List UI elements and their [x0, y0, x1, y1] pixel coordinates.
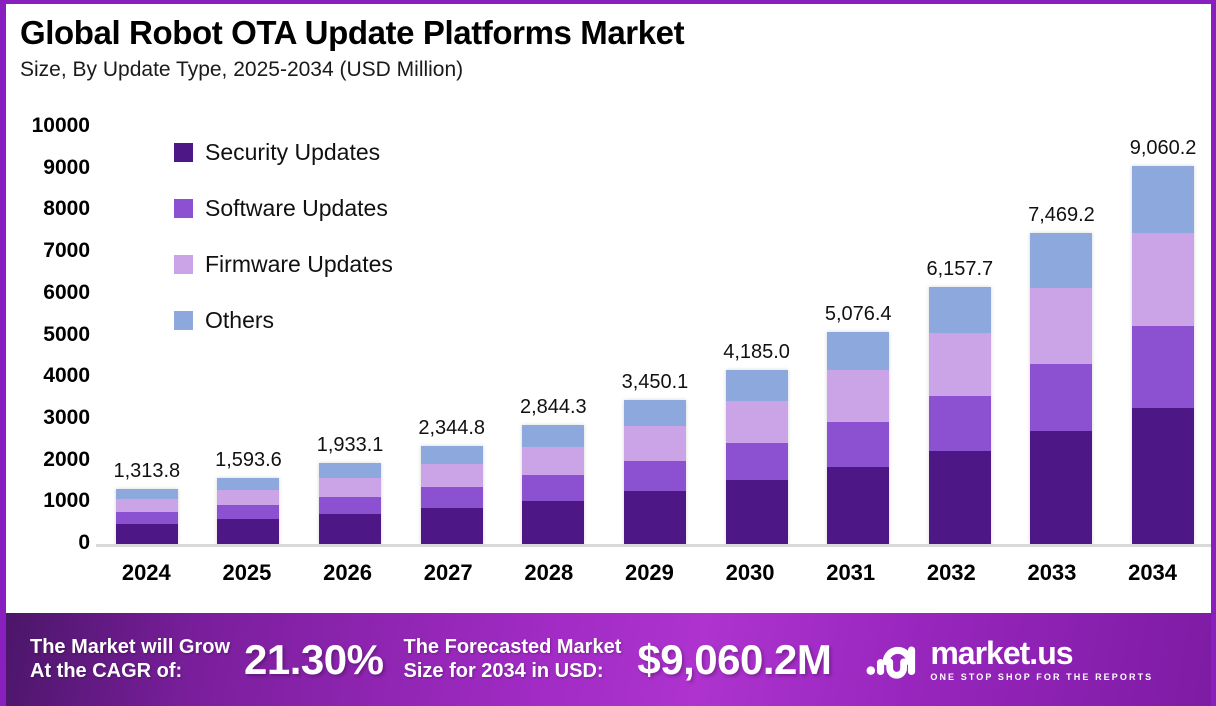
brand-logo[interactable]: market.us ONE STOP SHOP FOR THE REPORTS	[865, 637, 1153, 682]
legend-item-label: Software Updates	[205, 195, 388, 222]
infographic-frame: Global Robot OTA Update Platforms Market…	[0, 0, 1216, 706]
bar-segment-security-updates[interactable]	[319, 514, 381, 544]
bar-column[interactable]: 4,185.0	[726, 122, 788, 544]
bar-total-label: 6,157.7	[926, 258, 993, 281]
legend-item-label: Security Updates	[205, 139, 380, 166]
bar-segment-firmware-updates[interactable]	[827, 370, 889, 421]
page-subtitle: Size, By Update Type, 2025-2034 (USD Mil…	[20, 58, 1211, 81]
y-axis-tick: 2000	[43, 448, 90, 472]
x-axis-tick: 2027	[417, 560, 479, 586]
bar-segment-security-updates[interactable]	[929, 451, 991, 544]
legend-swatch-icon	[174, 255, 193, 274]
stacked-bar[interactable]	[421, 446, 483, 544]
legend-swatch-icon	[174, 311, 193, 330]
bar-segment-security-updates[interactable]	[827, 467, 889, 544]
x-axis-tick: 2029	[618, 560, 680, 586]
x-axis-tick: 2031	[820, 560, 882, 586]
y-axis-tick: 0	[78, 531, 90, 555]
bar-total-label: 2,844.3	[520, 396, 587, 419]
y-axis-tick: 9000	[43, 156, 90, 180]
cagr-label-line1: The Market will Grow	[30, 636, 230, 660]
y-axis: 1000090008000700060005000400030002000100…	[6, 122, 90, 547]
stacked-bar[interactable]	[827, 332, 889, 544]
bar-segment-security-updates[interactable]	[726, 480, 788, 544]
bar-segment-others[interactable]	[624, 400, 686, 426]
bar-total-label: 1,593.6	[215, 449, 282, 472]
stacked-bar[interactable]	[726, 370, 788, 544]
bar-segment-software-updates[interactable]	[116, 512, 178, 524]
cagr-label-line2: At the CAGR of:	[30, 660, 230, 684]
bar-segment-others[interactable]	[827, 332, 889, 370]
stacked-bar[interactable]	[217, 478, 279, 544]
x-axis-tick: 2033	[1021, 560, 1083, 586]
bar-segment-software-updates[interactable]	[217, 505, 279, 519]
page-title: Global Robot OTA Update Platforms Market	[20, 16, 1211, 51]
x-axis-tick: 2028	[518, 560, 580, 586]
bar-segment-firmware-updates[interactable]	[421, 464, 483, 488]
bar-segment-firmware-updates[interactable]	[217, 490, 279, 506]
bar-segment-software-updates[interactable]	[1030, 364, 1092, 431]
bar-segment-software-updates[interactable]	[726, 443, 788, 480]
legend-item-label: Firmware Updates	[205, 251, 393, 278]
y-axis-tick: 4000	[43, 364, 90, 388]
stacked-bar[interactable]	[319, 463, 381, 544]
x-axis: 2024202520262027202820292030203120322033…	[96, 556, 1203, 590]
bar-segment-firmware-updates[interactable]	[726, 401, 788, 443]
bar-segment-others[interactable]	[116, 489, 178, 499]
bar-segment-software-updates[interactable]	[1132, 326, 1194, 408]
chart-header: Global Robot OTA Update Platforms Market…	[6, 4, 1211, 81]
stacked-bar[interactable]	[1132, 166, 1194, 544]
bar-segment-firmware-updates[interactable]	[1030, 288, 1092, 364]
forecast-value: $9,060.2M	[637, 636, 831, 684]
bar-segment-firmware-updates[interactable]	[522, 447, 584, 476]
bar-total-label: 9,060.2	[1130, 137, 1197, 160]
bar-column[interactable]: 2,344.8	[421, 122, 483, 544]
bar-column[interactable]: 2,844.3	[522, 122, 584, 544]
y-axis-tick: 5000	[43, 323, 90, 347]
bar-segment-security-updates[interactable]	[1030, 431, 1092, 544]
bar-total-label: 5,076.4	[825, 303, 892, 326]
bar-segment-others[interactable]	[929, 287, 991, 333]
bar-total-label: 2,344.8	[418, 417, 485, 440]
x-axis-tick: 2034	[1122, 560, 1184, 586]
bar-segment-firmware-updates[interactable]	[929, 333, 991, 396]
bar-segment-security-updates[interactable]	[116, 524, 178, 544]
cagr-value: 21.30%	[244, 636, 383, 684]
legend-item-firmware-updates[interactable]: Firmware Updates	[174, 236, 393, 292]
bar-segment-firmware-updates[interactable]	[319, 478, 381, 497]
bar-segment-security-updates[interactable]	[624, 491, 686, 544]
bar-segment-software-updates[interactable]	[421, 487, 483, 508]
bar-segment-firmware-updates[interactable]	[116, 499, 178, 512]
stacked-bar[interactable]	[522, 425, 584, 544]
bar-segment-others[interactable]	[1132, 166, 1194, 233]
bar-segment-software-updates[interactable]	[624, 461, 686, 492]
bar-segment-others[interactable]	[522, 425, 584, 446]
legend-item-others[interactable]: Others	[174, 292, 393, 348]
market-us-logo-icon	[865, 640, 921, 680]
x-axis-tick: 2032	[920, 560, 982, 586]
bar-column[interactable]: 5,076.4	[827, 122, 889, 544]
bar-column[interactable]: 7,469.2	[1030, 122, 1092, 544]
bar-column[interactable]: 3,450.1	[624, 122, 686, 544]
bar-segment-security-updates[interactable]	[421, 508, 483, 544]
x-axis-tick: 2025	[216, 560, 278, 586]
bar-segment-others[interactable]	[217, 478, 279, 490]
bar-segment-software-updates[interactable]	[929, 396, 991, 451]
bar-column[interactable]: 9,060.2	[1132, 122, 1194, 544]
bar-segment-security-updates[interactable]	[522, 501, 584, 544]
bar-segment-others[interactable]	[319, 463, 381, 477]
bar-segment-firmware-updates[interactable]	[1132, 233, 1194, 326]
legend-item-software-updates[interactable]: Software Updates	[174, 180, 393, 236]
bar-segment-software-updates[interactable]	[522, 475, 584, 500]
logo-text: market.us ONE STOP SHOP FOR THE REPORTS	[930, 637, 1153, 682]
stacked-bar[interactable]	[1030, 233, 1092, 544]
bar-total-label: 4,185.0	[723, 341, 790, 364]
stacked-bar[interactable]	[929, 287, 991, 544]
cagr-label: The Market will Grow At the CAGR of:	[30, 636, 230, 683]
y-axis-tick: 6000	[43, 281, 90, 305]
y-axis-tick: 3000	[43, 406, 90, 430]
logo-name: market.us	[930, 637, 1153, 669]
bar-column[interactable]: 6,157.7	[929, 122, 991, 544]
bar-total-label: 1,313.8	[113, 460, 180, 483]
stacked-bar[interactable]	[116, 489, 178, 544]
bar-segment-others[interactable]	[421, 446, 483, 464]
bar-segment-security-updates[interactable]	[217, 519, 279, 544]
x-axis-tick: 2030	[719, 560, 781, 586]
forecast-label-line1: The Forecasted Market	[404, 636, 622, 660]
bar-segment-others[interactable]	[1030, 233, 1092, 288]
bar-segment-software-updates[interactable]	[827, 422, 889, 467]
chart-legend: Security UpdatesSoftware UpdatesFirmware…	[174, 124, 393, 348]
logo-tagline: ONE STOP SHOP FOR THE REPORTS	[930, 672, 1153, 682]
bar-column[interactable]: 1,313.8	[116, 122, 178, 544]
forecast-label-line2: Size for 2034 in USD:	[404, 660, 622, 684]
bar-segment-security-updates[interactable]	[1132, 408, 1194, 544]
legend-swatch-icon	[174, 143, 193, 162]
y-axis-tick: 1000	[43, 489, 90, 513]
y-axis-tick: 8000	[43, 197, 90, 221]
bar-segment-software-updates[interactable]	[319, 497, 381, 514]
stacked-bar[interactable]	[624, 400, 686, 544]
x-axis-tick: 2026	[317, 560, 379, 586]
legend-item-label: Others	[205, 307, 274, 334]
x-axis-line	[96, 544, 1214, 547]
y-axis-tick: 7000	[43, 239, 90, 263]
bar-total-label: 7,469.2	[1028, 204, 1095, 227]
y-axis-tick: 10000	[32, 114, 90, 138]
bar-segment-others[interactable]	[726, 370, 788, 401]
bar-total-label: 1,933.1	[317, 434, 384, 457]
legend-swatch-icon	[174, 199, 193, 218]
bar-segment-firmware-updates[interactable]	[624, 426, 686, 461]
legend-item-security-updates[interactable]: Security Updates	[174, 124, 393, 180]
x-axis-tick: 2024	[115, 560, 177, 586]
forecast-label: The Forecasted Market Size for 2034 in U…	[404, 636, 622, 683]
footer-banner: The Market will Grow At the CAGR of: 21.…	[6, 613, 1216, 706]
bar-total-label: 3,450.1	[622, 371, 689, 394]
